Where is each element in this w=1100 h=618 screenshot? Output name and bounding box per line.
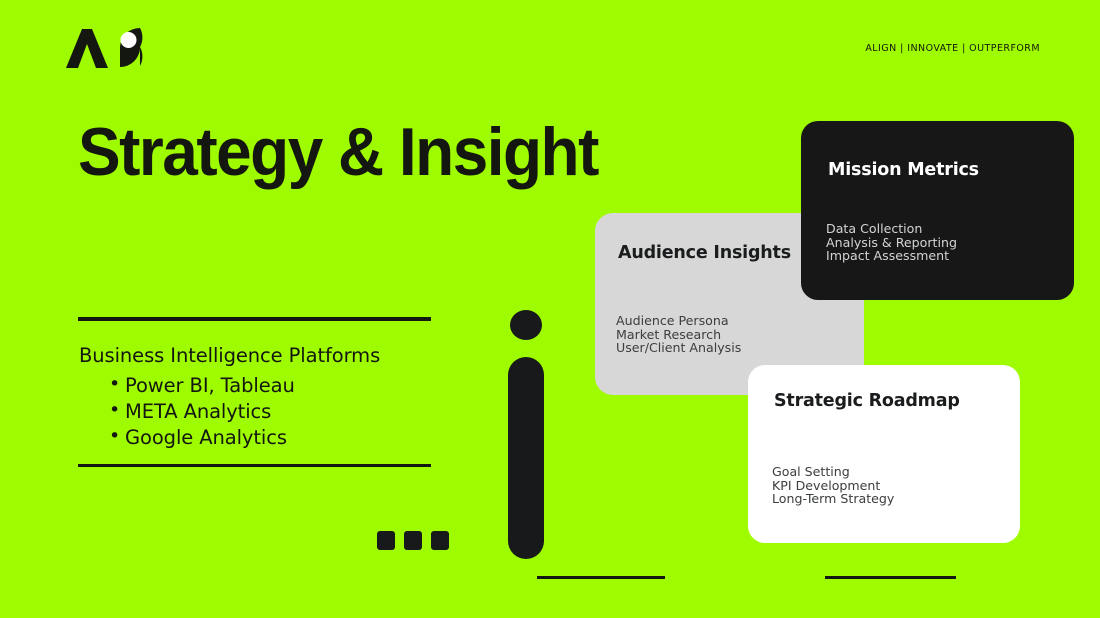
list-item: Google Analytics [109,425,459,451]
card-title: Audience Insights [618,243,791,263]
square-dot-icon [404,531,422,550]
list-item: Power BI, Tableau [109,373,459,399]
divider-bottom-left [537,576,665,579]
bi-list: Power BI, Tableau META Analytics Google … [79,373,459,450]
business-intelligence-block: Business Intelligence Platforms Power BI… [79,344,459,451]
list-item: META Analytics [109,399,459,425]
bi-heading: Business Intelligence Platforms [79,344,459,368]
divider-bottom [78,464,431,467]
divider-top [78,317,431,321]
card-line: KPI Development [772,479,894,493]
slide-canvas: ALIGN | INNOVATE | OUTPERFORM Strategy &… [0,0,1100,618]
card-strategic-roadmap: Strategic Roadmap Goal Setting KPI Devel… [748,365,1020,543]
card-title: Strategic Roadmap [774,391,960,411]
card-line: Market Research [616,328,741,342]
divider-bottom-right [825,576,956,579]
page-title: Strategy & Insight [78,118,598,186]
card-bullet-list: Goal Setting KPI Development Long-Term S… [772,465,894,506]
card-line: Audience Persona [616,314,741,328]
card-line: Long-Term Strategy [772,492,894,506]
rounded-bar-icon [508,357,544,559]
card-mission-metrics: Mission Metrics Data Collection Analysis… [801,121,1074,300]
card-line: Analysis & Reporting [826,236,957,250]
square-dot-icon [377,531,395,550]
circle-dot-icon [510,310,542,340]
card-bullet-list: Data Collection Analysis & Reporting Imp… [826,222,957,263]
brand-logo-icon [62,27,144,69]
square-dot-icon [431,531,449,550]
card-line: User/Client Analysis [616,341,741,355]
brand-tagline: ALIGN | INNOVATE | OUTPERFORM [865,43,1040,54]
card-line: Data Collection [826,222,957,236]
card-line: Goal Setting [772,465,894,479]
card-line: Impact Assessment [826,249,957,263]
card-bullet-list: Audience Persona Market Research User/Cl… [616,314,741,355]
card-title: Mission Metrics [828,160,979,180]
